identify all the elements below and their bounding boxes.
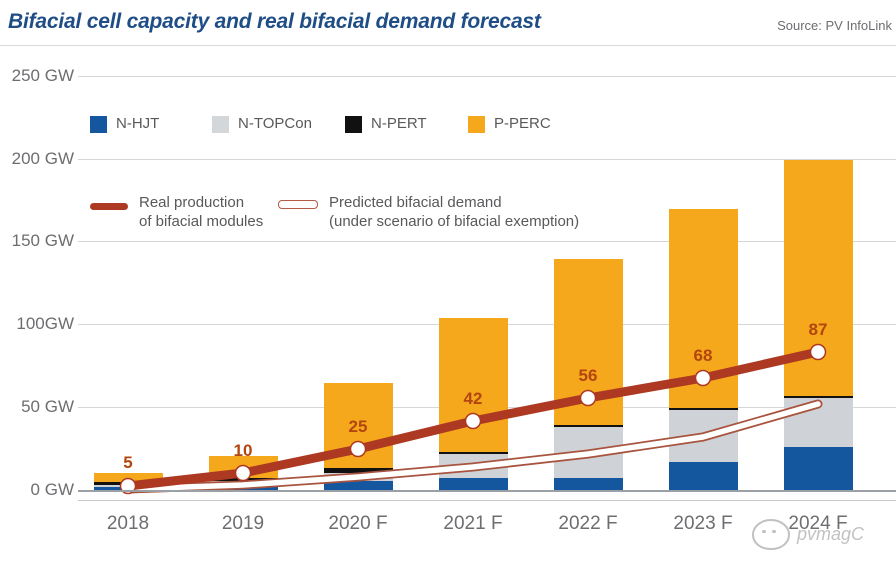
chart-root: Bifacial cell capacity and real bifacial… <box>0 0 896 567</box>
legend-item-pperc[interactable]: P-PERC <box>468 115 551 134</box>
legend-item-npert[interactable]: N-PERT <box>345 115 427 134</box>
overlay-lines-svg <box>0 0 896 567</box>
legend-swatch-ntopcon <box>212 116 229 133</box>
marker-2024 <box>811 345 826 360</box>
legend-label-predicted-demand: Predicted bifacial demand <box>329 194 579 213</box>
marker-2020 <box>351 442 366 457</box>
legend-swatch-pperc <box>468 116 485 133</box>
data-label-2021: 42 <box>443 389 503 409</box>
x-tick-2021: 2021 F <box>423 513 523 535</box>
x-tick-2022: 2022 F <box>538 513 638 535</box>
legend-line-hollow-icon <box>278 200 318 209</box>
legend-label-ntopcon: N-TOPCon <box>238 115 312 134</box>
legend-swatch-nhjt <box>90 116 107 133</box>
legend-item-nhjt[interactable]: N-HJT <box>90 115 159 134</box>
legend-item-real-production[interactable]: Real production of bifacial modules <box>90 194 263 232</box>
data-label-2023: 68 <box>673 346 733 366</box>
legend-label-nhjt: N-HJT <box>116 115 159 134</box>
legend-label-real-production: Real production <box>139 194 263 213</box>
legend-line-solid-icon <box>90 203 128 210</box>
data-label-2019: 10 <box>213 441 273 461</box>
legend-swatch-npert <box>345 116 362 133</box>
plot-area: 250 GW 200 GW 150 GW 100GW 50 GW 0 GW <box>0 0 896 567</box>
legend-label-npert: N-PERT <box>371 115 427 134</box>
legend-label-pperc: P-PERC <box>494 115 551 134</box>
marker-2023 <box>696 371 711 386</box>
data-label-2024: 87 <box>788 320 848 340</box>
data-label-2022: 56 <box>558 366 618 386</box>
x-tick-2018: 2018 <box>78 513 178 535</box>
marker-2019 <box>236 466 251 481</box>
x-tick-2020: 2020 F <box>308 513 408 535</box>
legend-sublabel-predicted-demand: (under scenario of bifacial exemption) <box>329 213 579 232</box>
legend-item-predicted-demand[interactable]: Predicted bifacial demand (under scenari… <box>278 194 579 232</box>
x-axis-line-secondary <box>78 500 896 501</box>
legend-item-ntopcon[interactable]: N-TOPCon <box>212 115 312 134</box>
data-label-2018: 5 <box>98 453 158 473</box>
marker-2021 <box>466 414 481 429</box>
x-tick-2023: 2023 F <box>653 513 753 535</box>
marker-2022 <box>581 391 596 406</box>
legend-sublabel-real-production: of bifacial modules <box>139 213 263 232</box>
x-tick-2024: 2024 F <box>768 513 868 535</box>
x-tick-2019: 2019 <box>193 513 293 535</box>
data-label-2020: 25 <box>328 417 388 437</box>
x-axis-line <box>78 490 896 492</box>
